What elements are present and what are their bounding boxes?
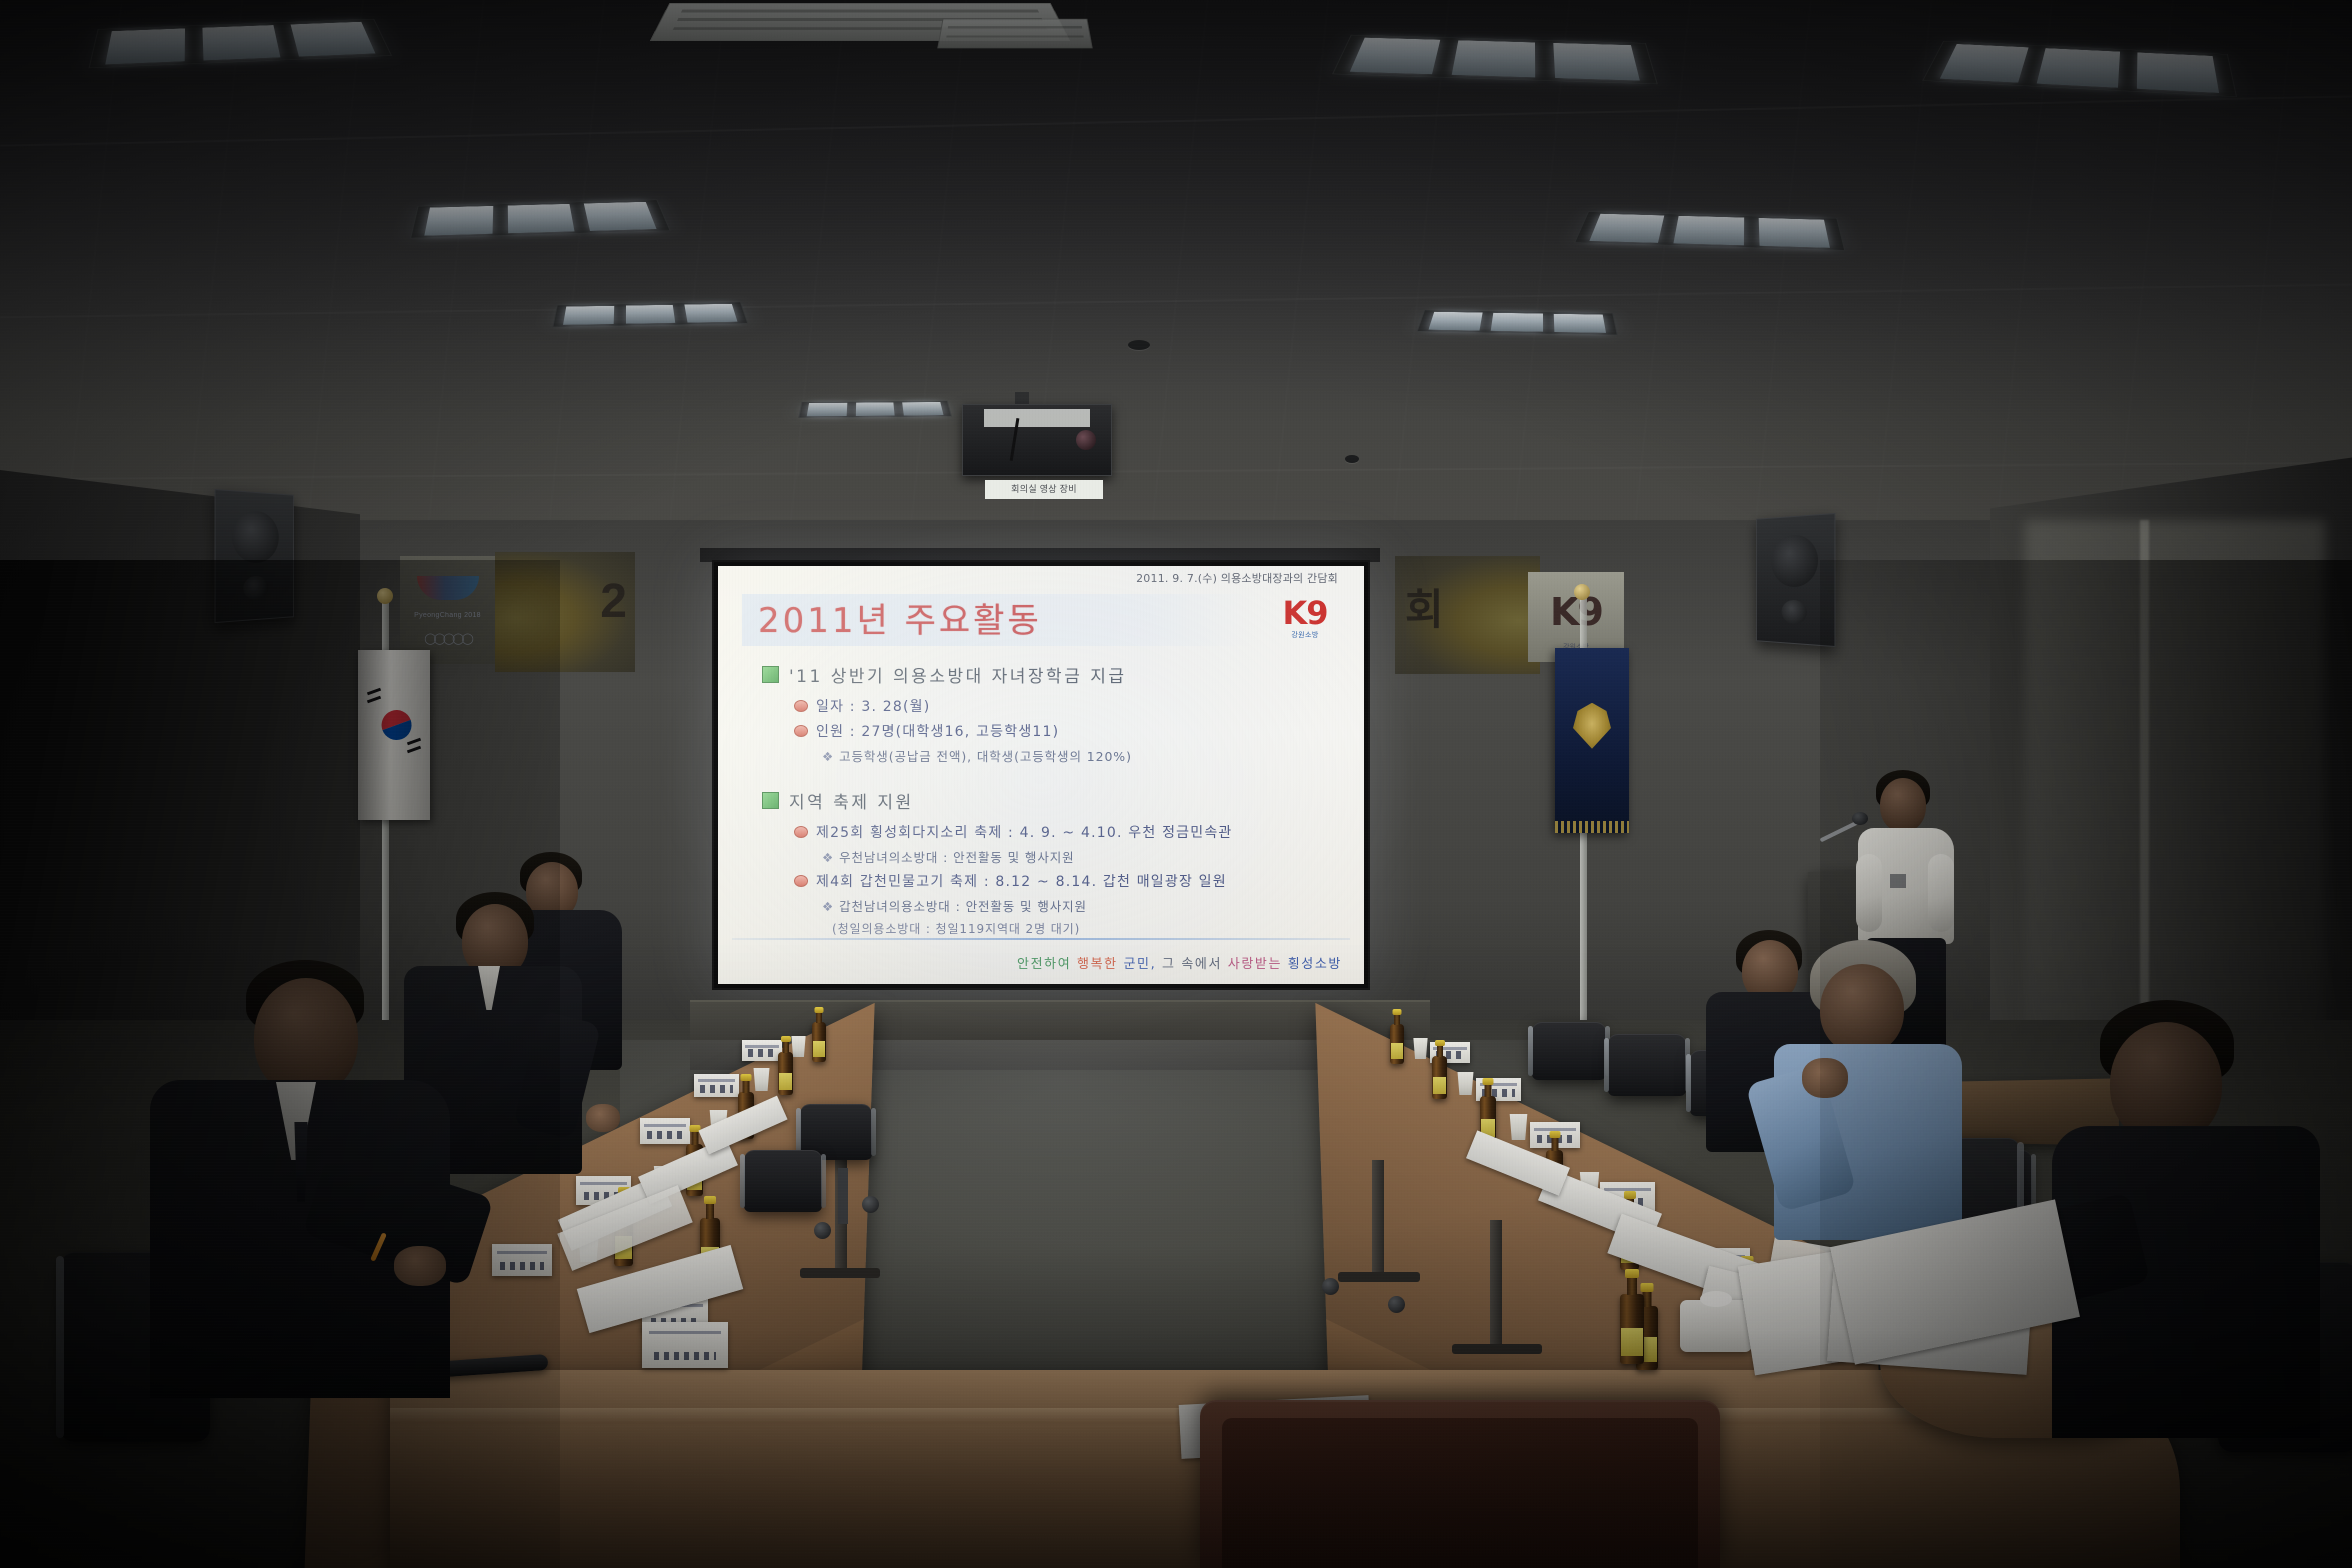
department-emblem-icon [1573, 703, 1611, 749]
chair-column [838, 1168, 848, 1224]
presenter-arm-left [1856, 854, 1882, 932]
section-heading-text: '11 상반기 의용소방대 자녀장학금 지급 [789, 662, 1127, 687]
attendee-foreground-left [150, 960, 480, 1400]
chair [744, 1150, 822, 1212]
door-frame [2140, 520, 2149, 1080]
wall-speaker-right [1756, 513, 1835, 647]
chair [1608, 1034, 1686, 1096]
drink-bottle [1620, 1294, 1644, 1364]
ceiling-speaker-dome [1128, 340, 1150, 350]
presenter-name-badge [1890, 874, 1906, 888]
banner-number-right: 회 [1405, 576, 1444, 637]
projector-lens [1076, 430, 1096, 450]
ceiling-air-vent [937, 19, 1092, 49]
drink-bottle [778, 1052, 793, 1095]
flag-finial-left [377, 588, 393, 604]
olympic-rings-icon: ◯◯◯◯◯ [400, 632, 495, 645]
projection-screen: 2011. 9. 7.(수) 의용소방대장과의 간담회 2011년 주요활동 K… [712, 560, 1370, 990]
pyeongchang-2018-banner: PyeongChang 2018 ◯◯◯◯◯ [400, 556, 495, 664]
bullet-text: 제25회 횡성회다지소리 축제 : 4. 9. ~ 4.10. 우천 정금민속관 [816, 822, 1233, 842]
attendee-right-blue [1758, 940, 1978, 1240]
attendee-hand-near-face [1802, 1058, 1848, 1098]
slide-k9-logo: K9 강원소방 [1268, 596, 1342, 644]
slide-subnote: ❖고등학생(공납금 전액), 대학생(고등학생의 120%) [822, 746, 1340, 765]
diamond-bullet-icon: ❖ [822, 899, 834, 914]
red-circle-bullet-icon [794, 725, 808, 737]
bullet-text: 제4회 갑천민물고기 축제 : 8.12 ~ 8.14. 갑천 매일광장 일원 [816, 871, 1227, 891]
attendee-hand [586, 1104, 620, 1132]
subnote-text: 우천남녀의소방대 : 안전활동 및 행사지원 [839, 850, 1074, 865]
slide-title: 2011년 주요활동 [758, 598, 1042, 644]
korean-national-flag [358, 650, 430, 820]
slide-header-text: 2011. 9. 7.(수) 의용소방대장과의 간담회 [718, 570, 1364, 592]
drink-bottle [812, 1022, 826, 1062]
attendee-right-front [2030, 1000, 2330, 1440]
slide-bullet: 제4회 갑천민물고기 축제 : 8.12 ~ 8.14. 갑천 매일광장 일원 [794, 871, 1340, 891]
flag-fringe [1555, 821, 1629, 833]
flag-finial-right [1574, 584, 1590, 600]
footer-word-4: 그 속에서 [1162, 957, 1222, 972]
bullet-text: 인원 : 27명(대학생16, 고등학생11) [816, 721, 1059, 741]
footer-word-2: 행복한 [1077, 957, 1118, 972]
chair-caster [1322, 1278, 1339, 1295]
green-square-bullet-icon [762, 666, 779, 683]
red-circle-bullet-icon [794, 875, 808, 887]
chair-foreground-center [1200, 1400, 1720, 1568]
ceiling-light-fixture [552, 302, 748, 327]
ceiling-light-fixture [798, 401, 952, 418]
name-card-tent [492, 1244, 552, 1276]
slide-body: '11 상반기 의용소방대 자녀장학금 지급 일자 : 3. 28(월) 인원 … [748, 662, 1340, 928]
drink-bottle [1432, 1056, 1447, 1099]
presenter-arm-right [1928, 854, 1954, 932]
banner-number-left: 2 [600, 574, 627, 629]
slide-divider [732, 938, 1350, 940]
diamond-bullet-icon: ❖ [822, 850, 834, 865]
footer-word-6: 횡성소방 [1288, 957, 1342, 972]
chair-caster [862, 1196, 879, 1213]
name-card-tent [640, 1118, 690, 1144]
diamond-bullet-icon: ❖ [822, 749, 834, 764]
pyeongchang-banner-text: PyeongChang 2018 [400, 612, 495, 619]
projector-label: 회의실 영상 장비 [985, 480, 1103, 499]
slide-bullet: 인원 : 27명(대학생16, 고등학생11) [794, 721, 1340, 741]
attendee-head [254, 978, 358, 1096]
chair-caster [814, 1222, 831, 1239]
presenter-head [1880, 778, 1926, 832]
ceiling-light-fixture [1417, 310, 1618, 335]
table-leg [1490, 1220, 1502, 1348]
name-card-tent [642, 1322, 728, 1368]
table-leg [1372, 1160, 1384, 1276]
subnote-text: 고등학생(공납금 전액), 대학생(고등학생의 120%) [839, 749, 1132, 764]
slide-section-heading: '11 상반기 의용소방대 자녀장학금 지급 [762, 662, 1340, 687]
bullet-text: 일자 : 3. 28(월) [816, 696, 930, 716]
table-foot [800, 1268, 880, 1278]
attendee-head [1820, 964, 1904, 1054]
k9-logo-subtext: 강원소방 [1268, 630, 1342, 640]
ceiling-smoke-detector [1345, 455, 1359, 463]
section-heading-text: 지역 축제 지원 [789, 788, 914, 813]
table-foot [1452, 1344, 1542, 1354]
name-card-tent [694, 1074, 739, 1097]
slide-section-heading: 지역 축제 지원 [762, 788, 1340, 813]
chair [1532, 1022, 1606, 1080]
green-square-bullet-icon [762, 792, 779, 809]
footer-word-1: 안전하여 [1017, 957, 1071, 972]
footer-word-5: 사랑받는 [1228, 957, 1282, 972]
slide-bullet: 제25회 횡성회다지소리 축제 : 4. 9. ~ 4.10. 우천 정금민속관 [794, 822, 1340, 842]
slide-footer: 안전하여 행복한 군민, 그 속에서 사랑받는 횡성소방 [1017, 953, 1342, 972]
ceiling-projector [962, 404, 1112, 476]
fire-department-flag [1555, 648, 1629, 833]
tissue-box [1680, 1300, 1752, 1352]
red-circle-bullet-icon [794, 826, 808, 838]
k9-logo-mark: K9 [1268, 596, 1342, 630]
pyeongchang-logo-icon [417, 576, 479, 600]
subnote-text: 갑천남녀의용소방대 : 안전활동 및 행사지원 [839, 899, 1087, 914]
red-circle-bullet-icon [794, 700, 808, 712]
name-card-tent [742, 1040, 782, 1061]
yellow-banner-right: 회 [1395, 556, 1540, 674]
slide-bullet: 일자 : 3. 28(월) [794, 696, 1340, 716]
drink-bottle [1390, 1024, 1404, 1064]
attendee-hand-right [394, 1246, 446, 1286]
slide-parenthetical-note: (청일의용소방대 : 청일119지역대 2명 대기) [832, 920, 1340, 937]
yellow-banner-left: 2 [495, 552, 635, 672]
table-foot [1338, 1272, 1420, 1282]
slide-subnote: ❖우천남녀의소방대 : 안전활동 및 행사지원 [822, 847, 1340, 866]
wall-speaker-left [215, 489, 294, 623]
chair-caster [1388, 1296, 1405, 1313]
presentation-slide: 2011. 9. 7.(수) 의용소방대장과의 간담회 2011년 주요활동 K… [718, 566, 1364, 984]
meeting-room-photo: 회의실 영상 장비 PyeongChang 2018 ◯◯◯◯◯ 2 회 K9 … [0, 0, 2352, 1568]
footer-word-3: 군민, [1123, 957, 1156, 972]
slide-subnote: ❖갑천남녀의용소방대 : 안전활동 및 행사지원 [822, 896, 1340, 915]
